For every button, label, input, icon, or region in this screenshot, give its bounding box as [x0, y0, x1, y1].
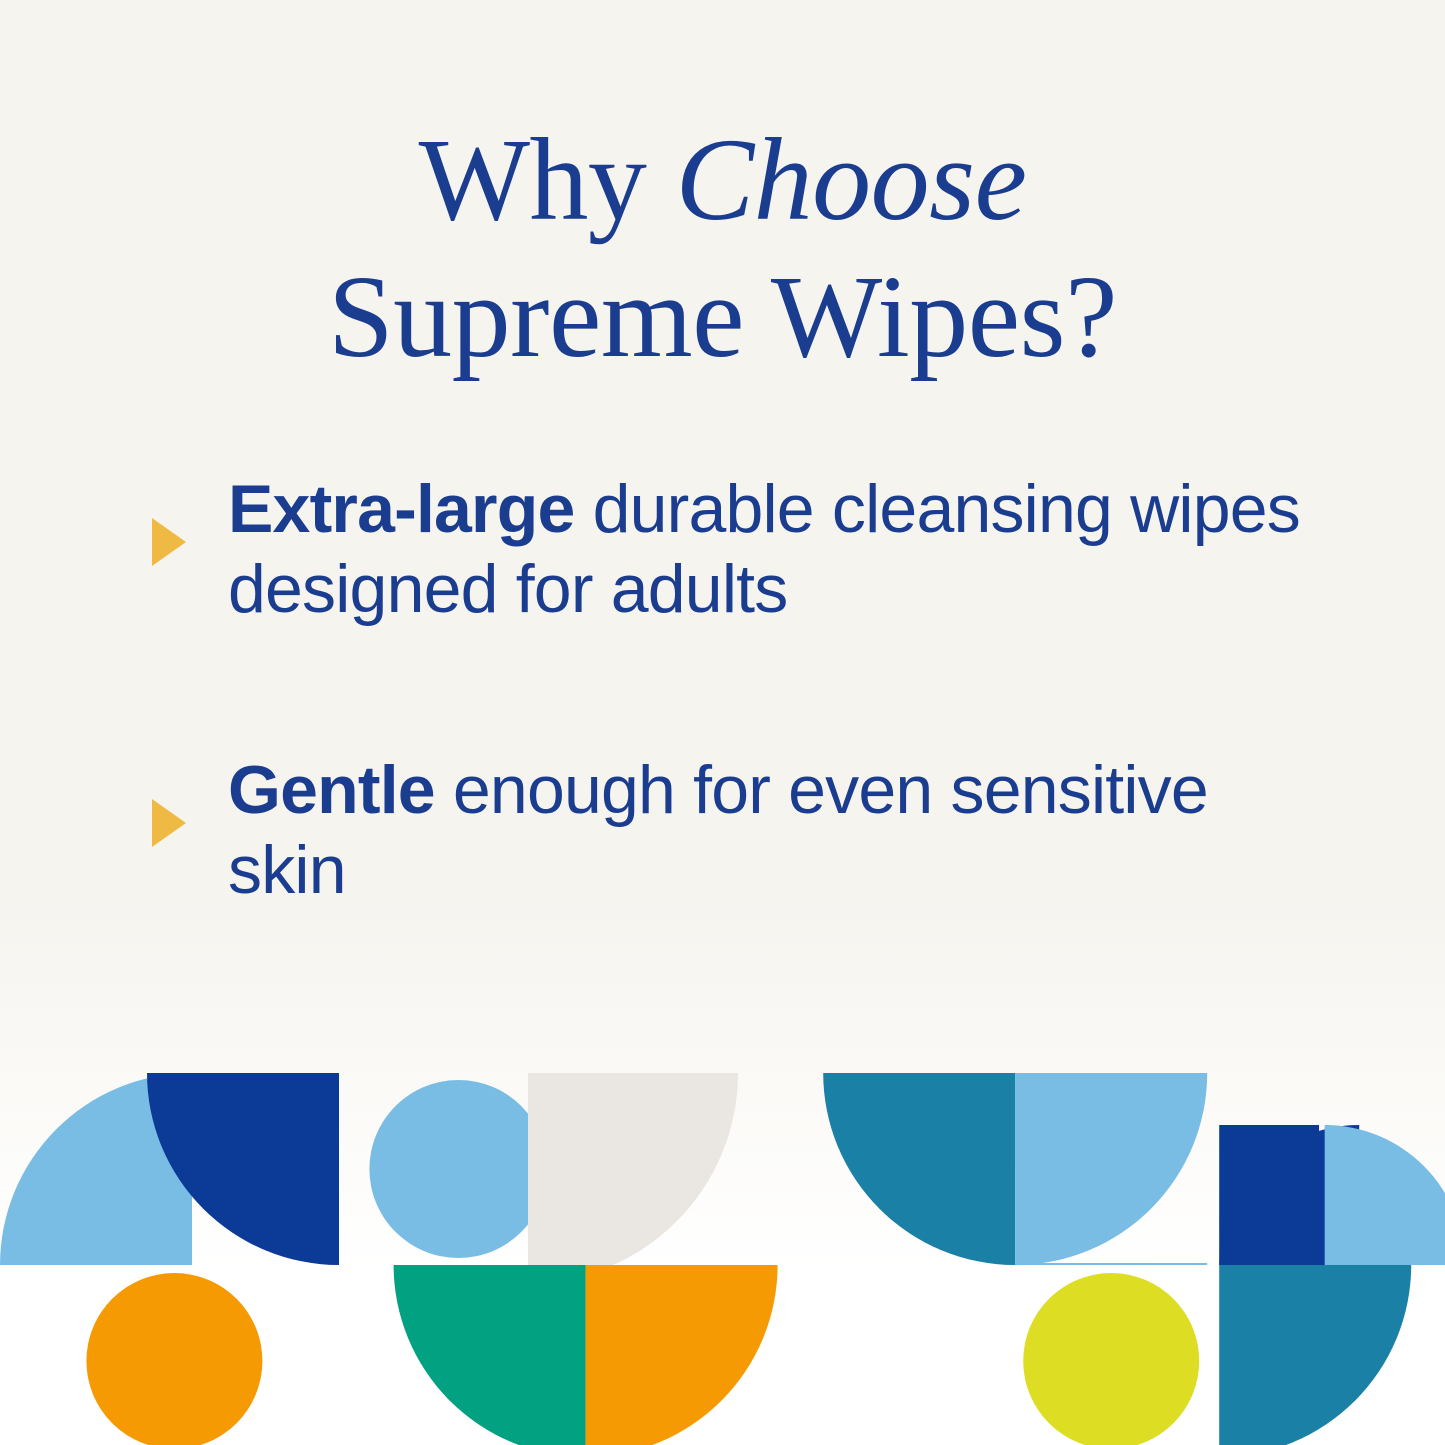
circle-orange — [86, 1273, 262, 1445]
quarter-teal-lower — [1219, 1265, 1411, 1445]
edge-light-blue-right — [1325, 1125, 1329, 1265]
quarter-light-blue-dome — [1015, 1073, 1207, 1265]
list-item-text: Gentle enough for even sensitive skin — [228, 751, 1328, 910]
quarter-green — [394, 1265, 586, 1445]
triangle-right-icon — [152, 518, 186, 566]
quarter-light-blue-right — [1325, 1125, 1445, 1265]
quarter-teal-upper — [823, 1073, 1015, 1265]
quarter-beige — [528, 1073, 738, 1283]
headline-line-2: Supreme Wipes? — [0, 249, 1445, 386]
benefit-list: Extra-large durable cleansing wipes desi… — [0, 470, 1445, 1032]
triangle-right-icon — [152, 799, 186, 847]
quarter-orange — [586, 1265, 778, 1445]
headline-word-choose: Choose — [675, 114, 1026, 245]
dome-base — [1015, 1263, 1207, 1265]
headline-word-why: Why — [419, 114, 676, 245]
headline-line-1: Why Choose — [0, 112, 1445, 249]
list-item: Gentle enough for even sensitive skin — [0, 751, 1445, 910]
circle-light-blue-upper — [369, 1080, 547, 1258]
promo-graphic: Why Choose Supreme Wipes? Extra-large du… — [0, 0, 1445, 1445]
list-item-lead: Gentle — [228, 752, 435, 828]
list-item-text: Extra-large durable cleansing wipes desi… — [228, 470, 1328, 629]
list-item: Extra-large durable cleansing wipes desi… — [0, 470, 1445, 629]
page-title: Why Choose Supreme Wipes? — [0, 112, 1445, 386]
list-item-lead: Extra-large — [228, 471, 574, 547]
circle-lime — [1023, 1273, 1199, 1445]
decorative-shape-pattern — [0, 1055, 1445, 1445]
